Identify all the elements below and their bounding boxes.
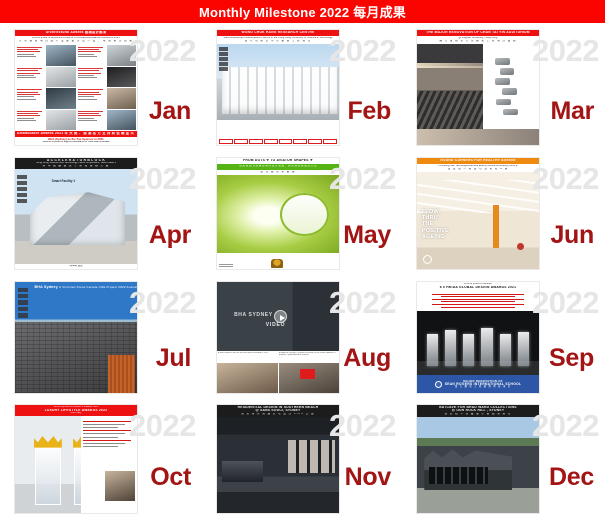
poster-jul-caption-sub: A Victorian Stone Facade Villa Project 2… [59,285,137,289]
poster-apr-header: A C C E L E R A T O R B L O C K Hong Kon… [15,158,137,169]
shop-photo [279,363,340,393]
poster-may-head-line1: FROM DOTS ✈ TO AVIATOR SHAPES ✈ [219,159,337,162]
poster-jun-head-line1: ROUND CORNERS FOR HEALTHY AGEING [419,159,537,162]
poster-feb-subhead: Staff Development and Research Centre of… [217,36,339,44]
year-watermark: 2022 [532,410,599,441]
poster-jul-caption: BHA Sydney A Victorian Stone Facade Vill… [35,285,137,289]
award-photo [107,67,136,87]
trophy [518,332,529,367]
poster-oct[interactable]: BHA is proud to receive 2 Awards from LU… [14,404,138,514]
month-grid: Architectural Awards 建築設計獎項 BHA is proud… [0,23,605,517]
poster-mar-head-line3: 陳 大 賢 禮 堂 大 型 翻 新 工 程 項 目 圖 輯 [419,40,537,43]
poster-apr-side-rail [17,175,27,219]
floor-plan-diagram [219,139,337,144]
poster-feb[interactable]: WONG CHUK HANG RESEARCH CENTRE Staff Dev… [216,29,340,146]
crown-trophy [35,445,62,505]
year-watermark: 2022 [129,410,196,441]
page-header-banner: Monthly Milestone 2022 每月成果 [0,0,605,23]
award-photo-grid [16,45,136,129]
award-photo [46,88,75,108]
month-tile-mar[interactable]: THE MAJOR RENOVATION OF CHAN TAI YIN AUD… [402,23,605,151]
award-text-block [77,88,106,108]
diagram-part [496,99,511,106]
poster-jan-foot-line1: Ambassador Awards 2021 年 大 獎 ． 感 謝 各 方 支… [17,132,135,135]
award-photo [46,45,75,65]
poster-jul-body: BHA Sydney A Victorian Stone Facade Vill… [15,282,137,393]
poster-nov-head-line3: 悉 尼 南 岸 海 灘 住 宅 設 計 CHIC 之 風 [219,413,337,416]
year-watermark: 2022 [129,35,196,66]
poster-aug-body: BHA SYDNEY VIDEO [217,282,339,351]
poster-aug[interactable]: BHA SYDNEY VIDEO A short video of the fu… [216,281,340,394]
poster-sep-header: BHA is proud to receive 6 x HKIDA GLOBAL… [417,282,539,291]
poster-jul-side-rail [18,288,28,337]
poster-dec[interactable]: BATCAVE FOR BRAD WARD COLLECTIONS @ OUR … [416,404,540,514]
accelerator-block-photo [15,169,137,264]
poster-may[interactable]: FROM DOTS ✈ TO AVIATOR SHAPES ✈ 由 點 線 面 … [216,157,340,270]
monthly-milestone-page: Monthly Milestone 2022 每月成果 Architectura… [0,0,605,517]
poster-dec-head-line3: 悉 尼 私 人 珍 藏 展 示 蝙 蝠 洞 項 目 [419,413,537,416]
poster-jan-head-line1: Architectural Awards 建築設計獎項 [17,31,135,34]
year-watermark: 2022 [329,35,396,66]
poster-mar[interactable]: THE MAJOR RENOVATION OF CHAN TAI YIN AUD… [416,29,540,146]
month-label-may: May [343,223,391,248]
year-watermark: 2022 [532,163,599,194]
award-photo [107,110,136,130]
school-renovation-banner: MAJOR RENOVATION OF SEAN ROGERS INTERNAT… [417,375,539,393]
award-photo [46,67,75,87]
month-label-feb: Feb [347,99,391,124]
month-tile-sep[interactable]: BHA is proud to receive 6 x HKIDA GLOBAL… [402,275,605,398]
research-centre-photo [217,44,339,119]
month-label-sep: Sep [549,346,594,371]
award-text-block [77,110,106,130]
poster-dec-body [417,417,539,513]
award-text-block [77,45,106,65]
month-label-jun: Jun [550,223,594,248]
batcave-house-photo [417,417,539,513]
trophy [427,334,438,366]
award-text-block [16,110,45,130]
poster-sep-body [417,311,539,375]
kindergarten-corridor-photo [217,175,339,253]
poster-apr-footer: Sydney 悉尼 [15,264,137,269]
poster-jan-foot-line3: Bma.intl is proud to support Abundant5 f… [17,141,135,144]
award-text-block [16,45,45,65]
year-watermark: 2022 [329,287,396,318]
poster-apr-head-line3: 科 學 園 擴 建 第 三 期 加 速 器 大 樓 [17,165,135,168]
poster-mar-body [417,44,539,128]
year-watermark: 2022 [329,410,396,441]
poster-feb-head-line1: WONG CHUK HANG RESEARCH CENTRE [219,31,337,34]
poster-jun-body: FLOW- THRU THE POSITIVE AGEING [417,172,539,269]
poster-jun[interactable]: ROUND CORNERS FOR HEALTHY AGEING Po Leun… [416,157,540,270]
month-label-mar: Mar [550,99,594,124]
interior-photo [105,471,135,502]
month-tile-oct[interactable]: BHA is proud to receive 2 Awards from LU… [0,398,202,517]
poster-apr-body: Smart Facility 1 [15,169,137,264]
page-title: Monthly Milestone 2022 每月成果 [199,2,406,21]
video-title-label: BHA SYDNEY [234,312,273,318]
poster-jan[interactable]: Architectural Awards 建築設計獎項 BHA is proud… [14,29,138,146]
month-tile-feb[interactable]: WONG CHUK HANG RESEARCH CENTRE Staff Dev… [202,23,402,151]
month-label-dec: Dec [549,465,594,490]
poster-mar-head-line1: THE MAJOR RENOVATION OF CHAN TAI YIN AUD… [419,31,537,34]
poster-may-footer [217,253,339,269]
year-watermark: 2022 [129,287,196,318]
award-text-block [16,88,45,108]
trophy [481,328,492,366]
poster-aug-captions: A short video of the full site and works… [218,352,338,363]
trophy [500,334,511,366]
month-label-jul: Jul [156,346,191,371]
diagram-part [495,78,510,85]
poster-mar-photo-strip [417,129,539,145]
award-photo [107,88,136,108]
year-watermark: 2022 [329,163,396,194]
month-tile-jun[interactable]: ROUND CORNERS FOR HEALTHY AGEING Po Leun… [402,151,605,275]
poster-may-head-line2: 由 點 線 面 到 飛 機 形 態 的 設 計 演 變 ． 航 天 城 幼 稚 … [219,165,337,168]
video-sub-label: VIDEO [266,322,286,328]
poster-sep[interactable]: BHA is proud to receive 6 x HKIDA GLOBAL… [416,281,540,394]
post-caption-left: A short video of the full site and works… [218,352,277,363]
month-tile-apr[interactable]: A C C E L E R A T O R B L O C K Hong Kon… [0,151,202,275]
poster-jul[interactable]: BHA Sydney A Victorian Stone Facade Vill… [14,281,138,394]
school-crest-icon [435,381,442,388]
poster-feb-plan-strip [217,120,339,145]
sponsor-emblem-icon [271,259,283,268]
poster-aug-post-strip: A short video of the full site and works… [217,351,339,393]
month-tile-aug[interactable]: BHA SYDNEY VIDEO A short video of the fu… [202,275,402,398]
poster-jun-subhead: Po Leung Kuk Yau Neighbourhood Elderly C… [417,164,539,172]
poster-oct-header: BHA is proud to receive 2 Awards from LU… [15,405,137,416]
poster-feb-body [217,44,339,119]
poster-nov-header: RESIDENTIAL DESIGN IN SOUTHERN BEACH @ S… [217,405,339,417]
poster-apr-corner-label: Sydney 悉尼 [17,265,135,268]
month-label-oct: Oct [150,465,191,490]
diagram-part [500,68,515,75]
poster-feb-head-line3: 黃 竹 坑 研 究 中 心 重 建 工 程 項 目 [219,40,337,43]
year-watermark: 2022 [532,287,599,318]
trophy [445,330,456,366]
trophy-group [427,325,530,366]
poster-mar-subhead: @ Lingnan University, Hong Kong 陳 大 賢 禮 … [417,36,539,44]
award-text-block [77,67,106,87]
awards-trophy-photo [417,311,539,375]
month-tile-jul[interactable]: BHA Sydney A Victorian Stone Facade Vill… [0,275,202,398]
award-photo [46,110,75,130]
banner-line3: 重 大 翻 新 工 程 國 際 學 校 項 目 [445,386,522,388]
award-line-list [419,291,537,311]
poster-dec-header: BATCAVE FOR BRAD WARD COLLECTIONS @ OUR … [417,405,539,417]
poster-may-note [219,263,233,267]
timber-fence-detail [108,355,135,393]
poster-jul-caption-main: BHA Sydney [35,285,58,289]
month-tile-may[interactable]: FROM DOTS ✈ TO AVIATOR SHAPES ✈ 由 點 線 面 … [202,151,402,275]
month-tile-jan[interactable]: Architectural Awards 建築設計獎項 BHA is proud… [0,23,202,151]
month-tile-dec[interactable]: BATCAVE FOR BRAD WARD COLLECTIONS @ OUR … [402,398,605,517]
month-label-aug: Aug [343,346,391,371]
month-tile-nov[interactable]: RESIDENTIAL DESIGN IN SOUTHERN BEACH @ S… [202,398,402,517]
poster-sep-head-line2: 6 x HKIDA GLOBAL DESIGN AWARDS 2021 [419,286,537,289]
poster-oct-head-line3: from Italy [17,412,135,415]
award-text-block [16,67,45,87]
exploded-axonometric-diagram [483,44,539,128]
poster-jan-head-line3: 月 份 獲 獎 項 目 簡 介 及 建 築 作 品 一 覽 ． 敬 請 垂 注 … [17,40,135,43]
poster-jun-overlay-text: FLOW- THRU THE POSITIVE AGEING [422,209,449,240]
shop-photo [217,363,278,393]
poster-nov-body [217,417,339,513]
sans-souci-interior-photo [217,417,339,513]
diagram-part [495,58,510,65]
month-label-nov: Nov [345,465,391,490]
year-watermark: 2022 [129,163,196,194]
poster-may-head-line3: 幼 兒 教 育 新 體 驗 [219,171,337,174]
year-watermark: 2022 [532,35,599,66]
post-caption-right: A video of a project / photos of interio… [279,352,338,363]
month-label-jan: Jan [149,99,191,124]
poster-jan-subhead: BHA is proud to announce a total of 8 Ar… [15,36,137,44]
poster-jan-footer: BHA (Sydney) as the Top Sponsor in 2021 … [15,137,137,145]
poster-apr[interactable]: A C C E L E R A T O R B L O C K Hong Kon… [14,157,138,270]
school-banner-text: MAJOR RENOVATION OF SEAN ROGERS INTERNAT… [445,380,522,389]
poster-aug-photo-row [217,363,339,393]
poster-sep-footer: MAJOR RENOVATION OF SEAN ROGERS INTERNAT… [417,375,539,393]
poster-sep-award-list [417,291,539,311]
diagram-part [503,109,518,116]
poster-feb-side-marks [219,47,228,77]
poster-nov[interactable]: RESIDENTIAL DESIGN IN SOUTHERN BEACH @ S… [216,404,340,514]
diagram-part [502,88,517,95]
month-label-apr: Apr [149,223,191,248]
poster-may-body [217,175,339,253]
poster-apr-caption: Smart Facility 1 [52,179,76,183]
video-thumbnail[interactable]: BHA SYDNEY VIDEO [217,282,339,351]
trophy [463,334,474,366]
poster-jun-head-line3: 保 良 局 一 樂 安 心 護 老 院 B 座 [419,168,537,171]
poster-jan-body [15,44,137,130]
poster-oct-body [15,416,137,513]
